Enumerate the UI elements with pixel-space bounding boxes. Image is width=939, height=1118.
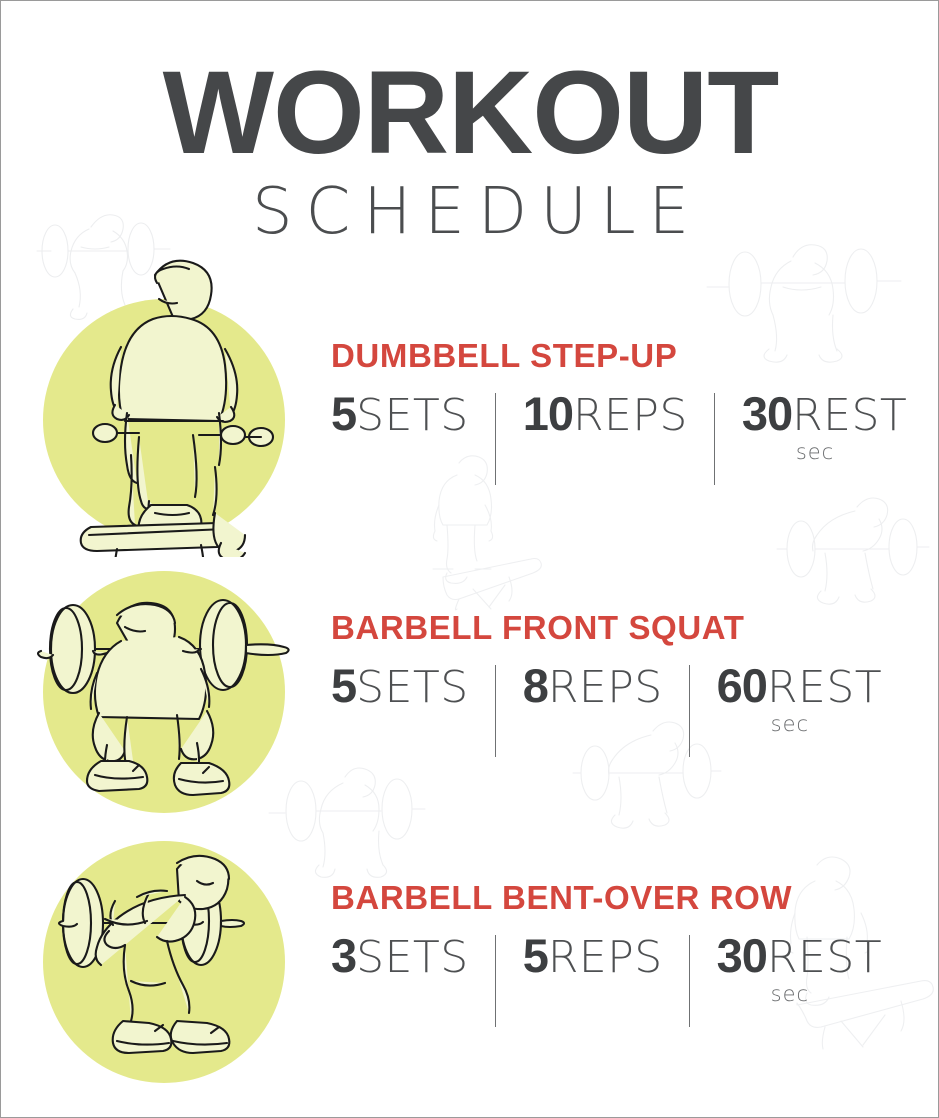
reps-label: REPS bbox=[548, 666, 663, 710]
poster-header: WORKOUT SCHEDULE bbox=[1, 59, 939, 244]
exercise-title: BARBELL BENT-OVER ROW bbox=[331, 881, 911, 914]
dumbbell-step-up-icon bbox=[29, 237, 309, 557]
exercise-illustration bbox=[43, 571, 285, 813]
sets-label: SETS bbox=[356, 394, 469, 438]
exercise-info: DUMBBELL STEP-UP 5 SETS 10 REPS bbox=[331, 339, 911, 482]
rest-value: 60 bbox=[717, 662, 767, 709]
stat-reps: 5 REPS bbox=[495, 932, 689, 980]
stat-rest: 60 REST sec bbox=[689, 662, 908, 736]
rest-unit: sec bbox=[796, 440, 907, 464]
exercise-row: BARBELL FRONT SQUAT 5 SETS 8 REPS bbox=[1, 553, 939, 825]
rest-label: REST bbox=[767, 936, 882, 980]
reps-value: 8 bbox=[523, 662, 548, 709]
reps-value: 5 bbox=[523, 932, 548, 979]
sets-label: SETS bbox=[356, 936, 469, 980]
rest-unit: sec bbox=[771, 712, 882, 736]
exercise-stats: 3 SETS 5 REPS 30 bbox=[331, 932, 911, 1024]
workout-schedule-poster: WORKOUT SCHEDULE bbox=[0, 0, 939, 1118]
exercise-illustration bbox=[43, 299, 285, 541]
sets-label: SETS bbox=[356, 666, 469, 710]
reps-value: 10 bbox=[523, 390, 573, 437]
rest-label: REST bbox=[792, 394, 907, 438]
rest-value: 30 bbox=[717, 932, 767, 979]
reps-label: REPS bbox=[548, 936, 663, 980]
stat-sets: 5 SETS bbox=[331, 662, 495, 710]
stat-sets: 3 SETS bbox=[331, 932, 495, 980]
exercise-info: BARBELL BENT-OVER ROW 3 SETS 5 REPS bbox=[331, 881, 911, 1024]
stat-rest: 30 REST sec bbox=[689, 932, 908, 1006]
exercise-stats: 5 SETS 8 REPS 60 bbox=[331, 662, 911, 754]
exercise-row: BARBELL BENT-OVER ROW 3 SETS 5 REPS bbox=[1, 823, 939, 1095]
exercise-stats: 5 SETS 10 REPS 30 bbox=[331, 390, 911, 482]
page-subtitle: SCHEDULE bbox=[1, 180, 939, 244]
stat-sets: 5 SETS bbox=[331, 390, 495, 438]
page-title: WORKOUT bbox=[1, 59, 939, 168]
barbell-bent-over-row-icon bbox=[37, 835, 295, 1093]
exercise-illustration bbox=[43, 841, 285, 1083]
stat-rest: 30 REST sec bbox=[714, 390, 933, 464]
rest-value: 30 bbox=[742, 390, 792, 437]
exercise-title: BARBELL FRONT SQUAT bbox=[331, 611, 911, 644]
stat-reps: 8 REPS bbox=[495, 662, 689, 710]
sets-value: 5 bbox=[331, 662, 356, 709]
barbell-front-squat-icon bbox=[37, 565, 295, 823]
rest-unit: sec bbox=[771, 982, 882, 1006]
reps-label: REPS bbox=[573, 394, 688, 438]
exercise-info: BARBELL FRONT SQUAT 5 SETS 8 REPS bbox=[331, 611, 911, 754]
exercise-row: DUMBBELL STEP-UP 5 SETS 10 REPS bbox=[1, 281, 939, 553]
sets-value: 3 bbox=[331, 932, 356, 979]
exercise-title: DUMBBELL STEP-UP bbox=[331, 339, 911, 372]
stat-reps: 10 REPS bbox=[495, 390, 714, 438]
rest-label: REST bbox=[767, 666, 882, 710]
sets-value: 5 bbox=[331, 390, 356, 437]
